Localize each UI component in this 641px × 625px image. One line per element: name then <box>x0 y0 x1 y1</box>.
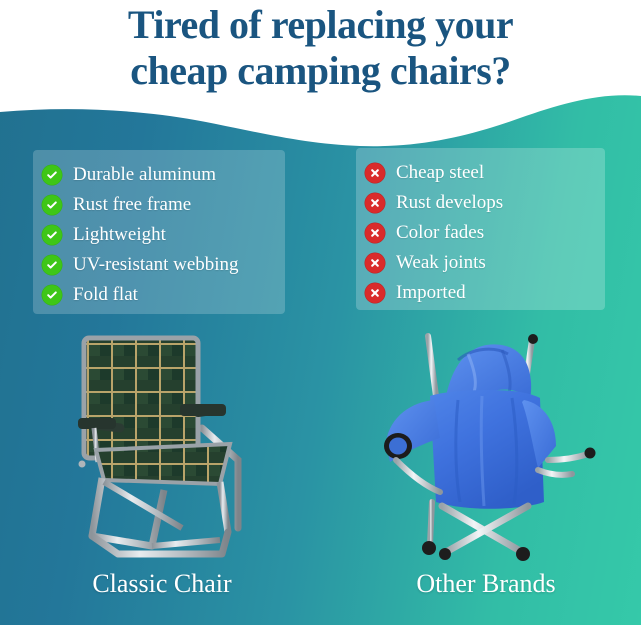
other-brand-chair-image <box>372 330 607 566</box>
list-item: Weak joints <box>365 252 605 274</box>
list-item: UV-resistant webbing <box>42 254 285 276</box>
list-item: Rust develops <box>365 192 605 214</box>
classic-chair-caption: Classic Chair <box>28 569 296 599</box>
page-title: Tired of replacing your cheap camping ch… <box>0 2 641 94</box>
headline-line-2: cheap camping chairs? <box>0 48 641 94</box>
x-circle-icon <box>365 253 385 273</box>
x-circle-icon <box>365 163 385 183</box>
cons-item-label: Color fades <box>396 223 484 243</box>
cons-item-label: Rust develops <box>396 193 503 213</box>
pros-item-label: Lightweight <box>73 225 166 245</box>
x-circle-icon <box>365 193 385 213</box>
headline-line-1: Tired of replacing your <box>0 2 641 48</box>
pros-item-label: UV-resistant webbing <box>73 255 239 275</box>
list-item: Imported <box>365 282 605 304</box>
list-item: Rust free frame <box>42 194 285 216</box>
pros-item-label: Fold flat <box>73 285 138 305</box>
pros-item-label: Durable aluminum <box>73 165 216 185</box>
classic-chair-image <box>52 332 282 564</box>
pros-list: Durable aluminum Rust free frame Lightwe… <box>33 150 285 306</box>
check-circle-icon <box>42 195 62 215</box>
x-circle-icon <box>365 223 385 243</box>
list-item: Cheap steel <box>365 162 605 184</box>
pros-panel: Durable aluminum Rust free frame Lightwe… <box>33 150 285 314</box>
cons-list: Cheap steel Rust develops Color fades We… <box>356 148 605 304</box>
list-item: Color fades <box>365 222 605 244</box>
check-circle-icon <box>42 255 62 275</box>
list-item: Fold flat <box>42 284 285 306</box>
list-item: Lightweight <box>42 224 285 246</box>
list-item: Durable aluminum <box>42 164 285 186</box>
comparison-infographic: Tired of replacing your cheap camping ch… <box>0 0 641 625</box>
check-circle-icon <box>42 225 62 245</box>
check-circle-icon <box>42 165 62 185</box>
cons-item-label: Weak joints <box>396 253 486 273</box>
cons-item-label: Cheap steel <box>396 163 484 183</box>
pros-item-label: Rust free frame <box>73 195 191 215</box>
check-circle-icon <box>42 285 62 305</box>
other-brands-caption: Other Brands <box>352 569 620 599</box>
cons-panel: Cheap steel Rust develops Color fades We… <box>356 148 605 310</box>
cons-item-label: Imported <box>396 283 466 303</box>
x-circle-icon <box>365 283 385 303</box>
